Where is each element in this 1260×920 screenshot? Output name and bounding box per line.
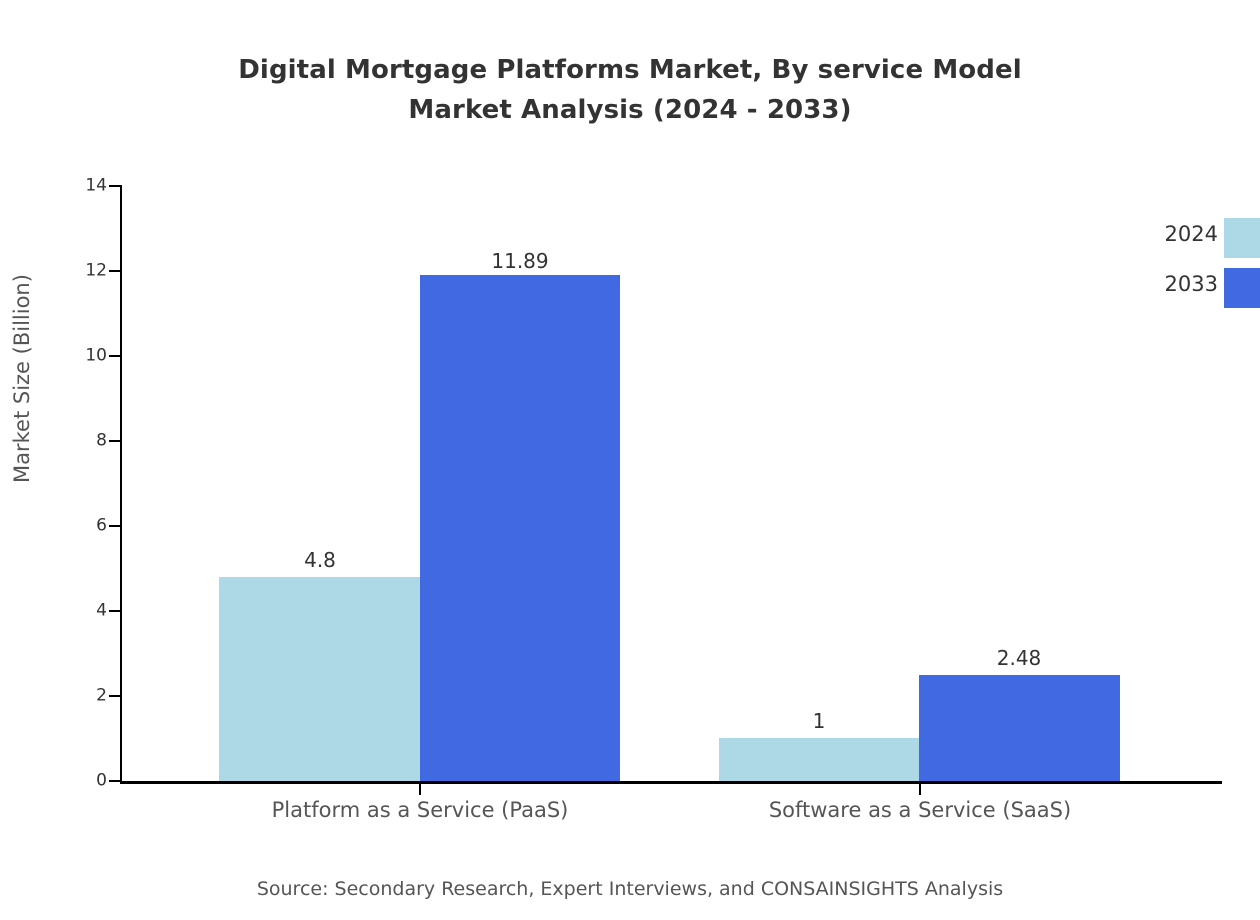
- y-tick-label-4: 4: [96, 603, 107, 620]
- bar-saas-2033[interactable]: [919, 675, 1120, 781]
- chart-legend: 2024 2033: [1130, 218, 1260, 308]
- legend-swatch-2024: [1224, 218, 1260, 258]
- bar-paas-2033[interactable]: [420, 275, 620, 781]
- bar-value-paas-2033: 11.89: [491, 249, 548, 273]
- y-tick-4: [109, 610, 120, 612]
- chart-figure: Digital Mortgage Platforms Market, By se…: [0, 0, 1260, 920]
- bar-value-paas-2024: 4.8: [304, 548, 336, 572]
- x-axis-spine: [120, 781, 1222, 784]
- bar-paas-2024[interactable]: [219, 577, 420, 781]
- y-axis-spine: [120, 185, 122, 781]
- y-tick-label-10: 10: [85, 348, 107, 365]
- chart-title-line2: Market Analysis (2024 - 2033): [0, 90, 1260, 130]
- legend-label-2033: 2033: [1130, 272, 1218, 296]
- y-tick-label-8: 8: [96, 433, 107, 450]
- legend-label-2024: 2024: [1130, 222, 1218, 246]
- y-tick-label-14: 14: [85, 178, 107, 195]
- chart-title-line1: Digital Mortgage Platforms Market, By se…: [238, 55, 1021, 85]
- x-axis-label-saas: Software as a Service (SaaS): [769, 798, 1071, 822]
- bar-value-saas-2024: 1: [813, 709, 826, 733]
- y-tick-14: [109, 185, 120, 187]
- plot-area: 0 2 4 6 8 10 12 14 4.8 11.89 1 2.48 Plat…: [120, 185, 1222, 781]
- y-tick-10: [109, 355, 120, 357]
- legend-swatch-2033: [1224, 268, 1260, 308]
- x-tick-paas: [419, 784, 421, 795]
- y-tick-6: [109, 525, 120, 527]
- legend-item-2033[interactable]: 2033: [1130, 268, 1260, 308]
- x-tick-saas: [919, 784, 921, 795]
- y-tick-0: [109, 780, 120, 782]
- y-tick-12: [109, 270, 120, 272]
- chart-title: Digital Mortgage Platforms Market, By se…: [0, 50, 1260, 130]
- y-axis-title: Market Size (Billion): [10, 459, 34, 483]
- bar-value-saas-2033: 2.48: [997, 646, 1042, 670]
- x-axis-label-paas: Platform as a Service (PaaS): [272, 798, 569, 822]
- bar-saas-2024[interactable]: [719, 738, 919, 781]
- y-tick-label-2: 2: [96, 688, 107, 705]
- y-tick-label-6: 6: [96, 518, 107, 535]
- source-note: Source: Secondary Research, Expert Inter…: [0, 878, 1260, 900]
- y-tick-label-0: 0: [96, 773, 107, 790]
- y-tick-label-12: 12: [85, 263, 107, 280]
- y-tick-8: [109, 440, 120, 442]
- y-tick-2: [109, 695, 120, 697]
- legend-item-2024[interactable]: 2024: [1130, 218, 1260, 258]
